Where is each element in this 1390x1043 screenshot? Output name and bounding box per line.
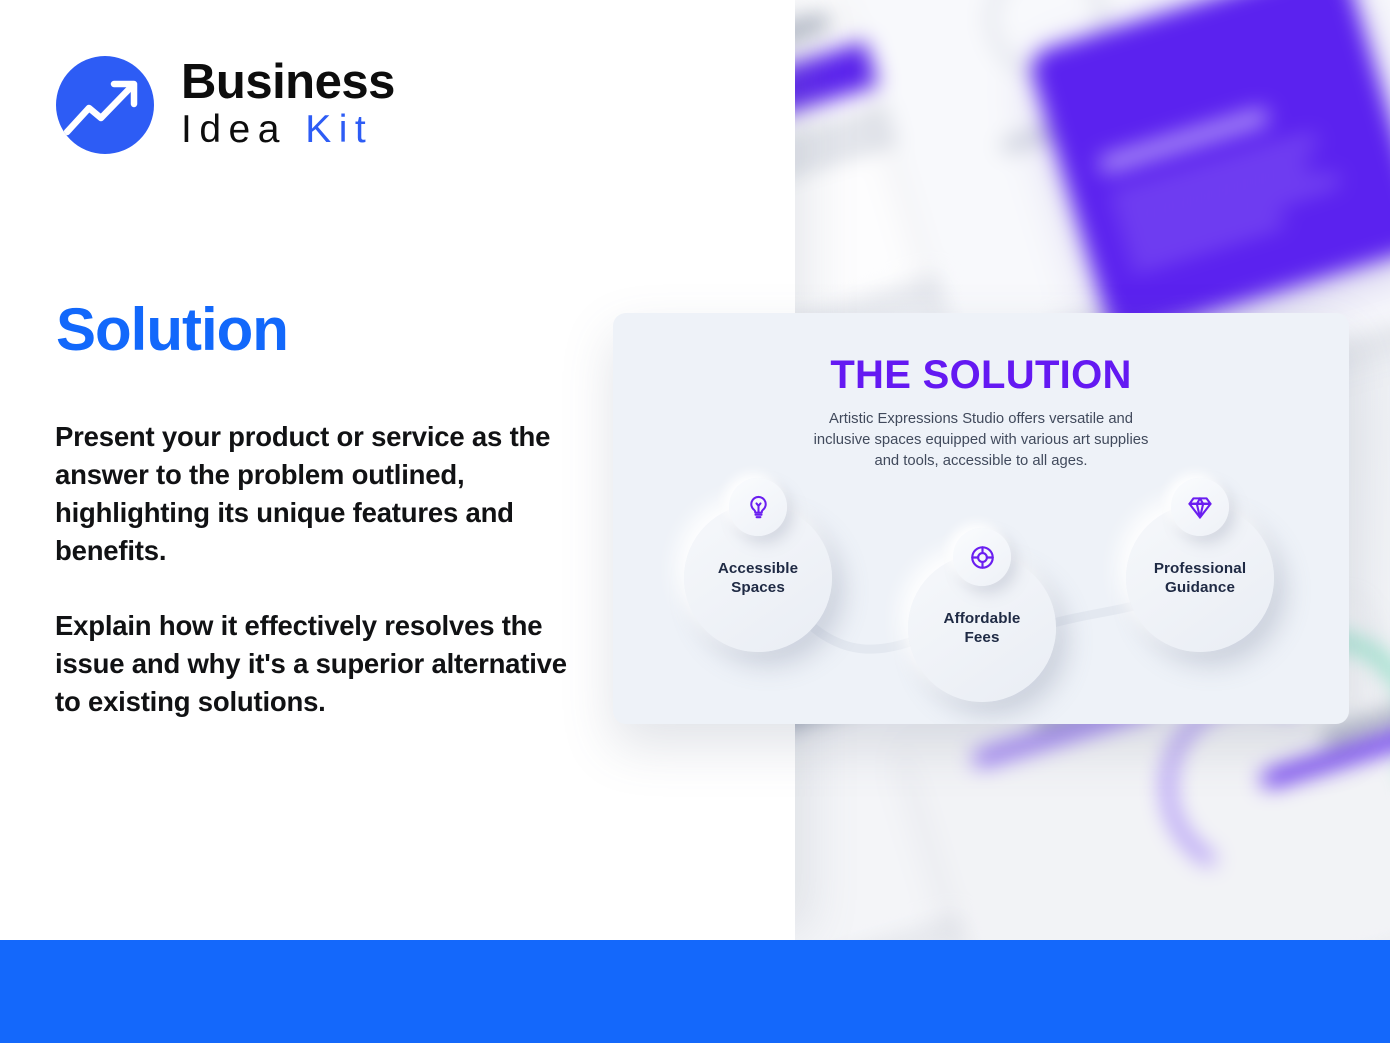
brand-logo: Business Idea Kit <box>56 56 395 154</box>
node-label-line1: Accessible <box>718 560 798 577</box>
node-label-line2: Guidance <box>1165 579 1235 596</box>
node-label-line1: Professional <box>1154 560 1246 577</box>
brand-wordmark: Business Idea Kit <box>181 58 395 153</box>
footer-bar <box>0 940 1390 1043</box>
brand-name-idea: Idea <box>181 108 305 151</box>
growth-arrow-icon <box>56 56 154 154</box>
page-title: Solution <box>56 295 288 364</box>
lightbulb-icon <box>729 478 787 536</box>
solution-card: THE SOLUTION Artistic Expressions Studio… <box>613 313 1349 724</box>
solution-node-label: Accessible Spaces <box>718 559 798 597</box>
node-label-line1: Affordable <box>944 610 1021 627</box>
node-label-line2: Fees <box>964 629 999 646</box>
solution-node-label: Professional Guidance <box>1154 559 1246 597</box>
description-paragraph-1: Present your product or service as the a… <box>55 418 595 570</box>
diamond-icon <box>1171 478 1229 536</box>
lifebuoy-icon <box>953 528 1011 586</box>
description-paragraph-2: Explain how it effectively resolves the … <box>55 607 595 721</box>
brand-name-primary: Business <box>181 58 395 106</box>
slide-canvas: Business Idea Kit Solution Present your … <box>0 0 1390 1043</box>
brand-name-kit: Kit <box>305 108 373 151</box>
brand-name-secondary: Idea Kit <box>181 108 395 153</box>
solution-node-label: Affordable Fees <box>944 609 1021 647</box>
node-label-line2: Spaces <box>731 579 785 596</box>
